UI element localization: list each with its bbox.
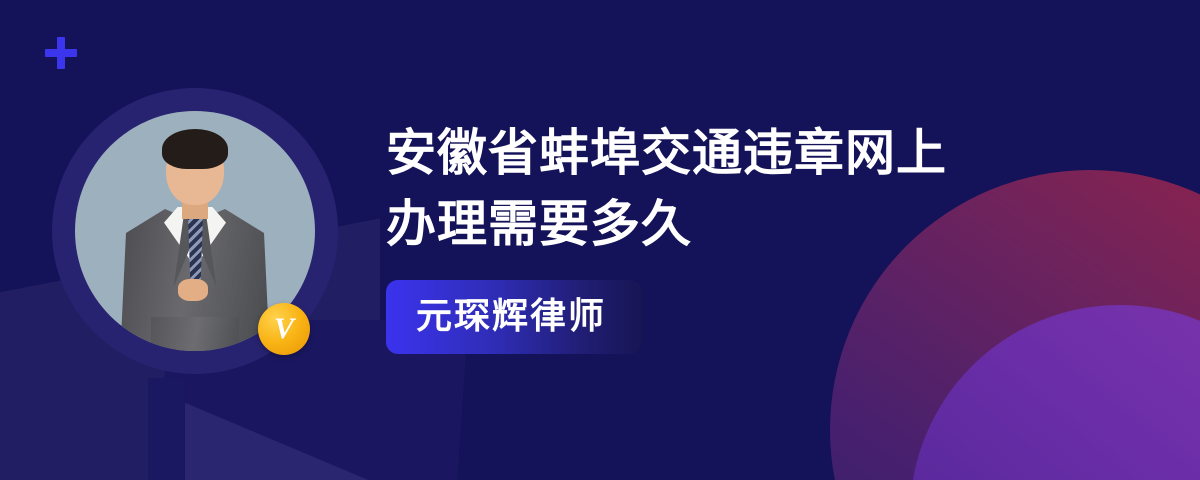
avatar: V bbox=[52, 88, 338, 374]
author-name-badge[interactable]: 元琛辉律师 bbox=[386, 280, 642, 354]
portrait-legs bbox=[151, 317, 239, 351]
page-title: 安徽省蚌埠交通违章网上 办理需要多久 bbox=[386, 118, 1126, 260]
verified-badge-icon: V bbox=[258, 303, 310, 355]
verified-badge-label: V bbox=[274, 314, 294, 344]
plus-icon bbox=[44, 36, 78, 70]
background-polygon-notch bbox=[148, 378, 184, 480]
banner-content: 安徽省蚌埠交通违章网上 办理需要多久 元琛辉律师 bbox=[386, 118, 1126, 354]
portrait-hands bbox=[178, 279, 208, 301]
lawyer-article-banner: V 安徽省蚌埠交通违章网上 办理需要多久 元琛辉律师 bbox=[0, 0, 1200, 480]
portrait-hair bbox=[162, 129, 228, 169]
